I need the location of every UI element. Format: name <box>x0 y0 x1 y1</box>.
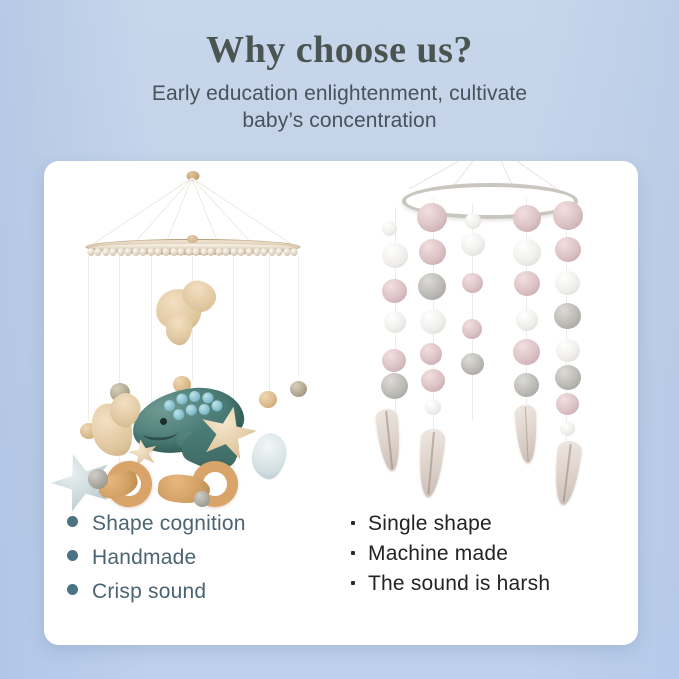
pompom-ball-icon <box>384 311 406 333</box>
bullet-dot-icon <box>351 521 355 525</box>
pompom-ball-icon <box>560 421 575 436</box>
list-item: Handmade <box>67 547 341 568</box>
pompom-ball-icon <box>419 239 446 265</box>
bullet-dot-icon <box>67 584 78 595</box>
pompom-ball-icon <box>555 271 580 295</box>
list-item-label: Single shape <box>368 513 492 534</box>
feather-rachis <box>563 444 572 503</box>
whale-spots <box>163 387 228 420</box>
list-item-label: The sound is harsh <box>368 573 550 594</box>
pompom-ball-icon <box>553 201 583 230</box>
left-product-image <box>44 161 341 506</box>
pompom-ball-icon <box>513 339 540 365</box>
coral-shape-icon <box>248 430 291 482</box>
whale-mouth-icon <box>143 425 177 441</box>
felt-bead-icon <box>259 391 277 408</box>
pompom-ball-icon <box>382 279 407 303</box>
feather-shape-icon <box>514 404 538 463</box>
pompom-ball-icon <box>417 203 447 232</box>
list-item-label: Machine made <box>368 543 508 564</box>
felt-bead-icon <box>88 469 108 489</box>
hanging-string <box>298 256 299 376</box>
feather-rachis <box>427 432 434 494</box>
list-item-label: Crisp sound <box>92 581 206 602</box>
pompom-ball-icon <box>556 339 580 362</box>
list-item-label: Handmade <box>92 547 196 568</box>
pompom-ball-icon <box>554 303 581 329</box>
pompom-ball-icon <box>514 271 540 296</box>
bullet-dot-icon <box>67 516 78 527</box>
comparison-panes: Shape cognition Handmade Crisp sound <box>44 161 638 645</box>
pompom-ball-icon <box>381 373 408 399</box>
pompom-ball-icon <box>461 233 485 256</box>
pompom-ball-icon <box>462 319 482 339</box>
pompom-ball-icon <box>555 237 581 262</box>
subtitle-line-2: baby’s concentration <box>0 108 679 135</box>
list-item-label: Shape cognition <box>92 513 246 534</box>
bullet-dot-icon <box>67 550 78 561</box>
pompom-ball-icon <box>513 239 541 266</box>
felt-bead-icon <box>194 491 210 507</box>
right-product-image <box>341 161 638 506</box>
pompom-ball-icon <box>516 309 538 331</box>
pompom-ball-icon <box>462 273 483 293</box>
feather-rachis <box>524 407 528 460</box>
page-header: Why choose us? Early education enlighten… <box>0 0 679 135</box>
list-item: Shape cognition <box>67 513 341 534</box>
pompom-ball-icon <box>465 213 481 229</box>
pompom-ball-icon <box>514 373 539 397</box>
feather-shape-icon <box>416 428 446 498</box>
pompom-ball-icon <box>382 221 397 236</box>
feather-rachis <box>385 412 393 469</box>
comparison-card: Shape cognition Handmade Crisp sound <box>44 161 638 645</box>
pompom-ball-icon <box>382 349 406 372</box>
list-item: Crisp sound <box>67 581 341 602</box>
list-item: Machine made <box>351 543 638 564</box>
list-item: Single shape <box>351 513 638 534</box>
left-product-pane: Shape cognition Handmade Crisp sound <box>44 161 341 645</box>
pompom-ball-icon <box>420 309 446 334</box>
hanging-string <box>88 256 89 421</box>
page-title: Why choose us? <box>0 30 679 72</box>
hanging-string <box>269 256 270 406</box>
pompom-ball-icon <box>382 243 408 268</box>
pompom-ball-icon <box>461 353 484 375</box>
right-feature-list: Single shape Machine made The sound is h… <box>341 513 638 645</box>
pompom-ball-icon <box>421 369 445 392</box>
page-subtitle: Early education enlightenment, cultivate… <box>0 81 679 135</box>
list-item: The sound is harsh <box>351 573 638 594</box>
bullet-dot-icon <box>351 551 355 555</box>
pompom-ball-icon <box>425 399 441 415</box>
pompom-ball-icon <box>556 393 579 415</box>
pompom-ball-icon <box>420 343 442 365</box>
bullet-dot-icon <box>351 581 355 585</box>
pompom-ball-icon <box>513 205 541 232</box>
felt-bead-icon <box>290 381 307 397</box>
feather-shape-icon <box>375 408 403 472</box>
wooden-ring-knob-icon <box>187 235 198 243</box>
pompom-ball-icon <box>418 273 446 300</box>
subtitle-line-1: Early education enlightenment, cultivate <box>0 81 679 108</box>
feather-shape-icon <box>551 440 583 506</box>
right-product-pane: Single shape Machine made The sound is h… <box>341 161 638 645</box>
pompom-ball-icon <box>555 365 581 390</box>
left-feature-list: Shape cognition Handmade Crisp sound <box>44 513 341 645</box>
